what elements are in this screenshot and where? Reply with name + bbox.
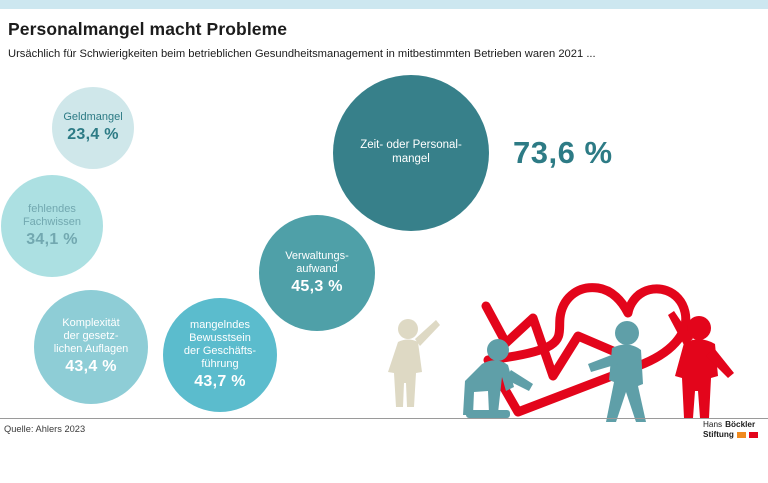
- bubble-label: aufwand: [296, 263, 338, 276]
- bubble-label: der gesetz-: [63, 330, 118, 343]
- bubble-label: Zeit- oder Personal-: [360, 139, 462, 153]
- bubble-label: führung: [201, 358, 238, 371]
- bubble-label: mangel: [392, 153, 430, 167]
- top-accent-bar: [0, 0, 768, 9]
- illustration-heart-people: [370, 250, 768, 428]
- bubble-label: lichen Auflagen: [54, 343, 129, 356]
- logo-line1-bold: Böckler: [725, 420, 755, 430]
- logo-swatch-red: [749, 432, 758, 438]
- bubble-zeit-oder-personalmangel[interactable]: Zeit- oder Personal-mangel: [333, 75, 489, 231]
- bubble-label: Verwaltungs-: [285, 250, 349, 263]
- figure-beige-arm-raised: [388, 319, 440, 407]
- logo-swatch-orange: [737, 432, 746, 438]
- bubble-geldmangel[interactable]: Geldmangel23,4 %: [52, 87, 134, 169]
- bubble-label: Fachwissen: [23, 216, 81, 229]
- bubble-value: 23,4 %: [67, 126, 119, 145]
- logo-line1-light: Hans: [703, 420, 722, 430]
- bubble-komplexitaet[interactable]: Komplexitätder gesetz-lichen Auflagen43,…: [34, 290, 148, 404]
- bubble-fehlendes-fachwissen[interactable]: fehlendesFachwissen34,1 %: [1, 175, 103, 277]
- bubble-value: 45,3 %: [291, 278, 343, 297]
- bubble-value: 34,1 %: [26, 231, 78, 250]
- bubble-label: der Geschäfts-: [184, 345, 256, 358]
- bubble-value: 43,4 %: [65, 358, 117, 377]
- bubble-label: fehlendes: [28, 203, 76, 216]
- page-subtitle: Ursächlich für Schwierigkeiten beim betr…: [8, 48, 596, 60]
- figure-red-arm-raised: [668, 311, 734, 418]
- logo-line2: Stiftung: [703, 430, 734, 440]
- source-note: Quelle: Ahlers 2023: [4, 424, 85, 434]
- bubble-value: 43,7 %: [194, 373, 246, 392]
- bubble-label: Komplexität: [62, 317, 119, 330]
- footer-divider: [0, 418, 768, 419]
- bubble-value-external: 73,6 %: [513, 135, 613, 171]
- bubble-label: Geldmangel: [63, 111, 122, 124]
- figure-teal-pushing: [588, 321, 646, 422]
- hans-boeckler-stiftung-logo: Hans Böckler Stiftung: [703, 420, 765, 444]
- page-title: Personalmangel macht Probleme: [8, 19, 287, 40]
- bubble-label: Bewusstsein: [189, 332, 251, 345]
- bubble-mangelndes-bewusstsein[interactable]: mangelndesBewusstseinder Geschäfts-führu…: [163, 298, 277, 412]
- infographic-root: Personalmangel macht Probleme Ursächlich…: [0, 0, 768, 483]
- bubble-label: mangelndes: [190, 319, 250, 332]
- heart-pulse-icon: [486, 288, 686, 412]
- bubble-verwaltungsaufwand[interactable]: Verwaltungs-aufwand45,3 %: [259, 215, 375, 331]
